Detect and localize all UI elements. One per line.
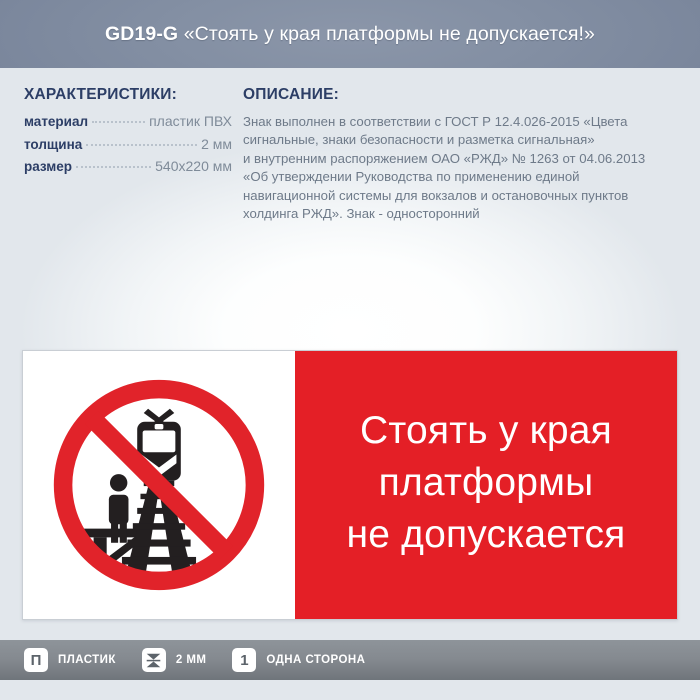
- badge-material: П ПЛАСТИК: [24, 648, 116, 672]
- thickness-icon: [142, 648, 166, 672]
- spec-value: 2 мм: [201, 136, 232, 152]
- plastic-icon: П: [24, 648, 48, 672]
- footer-bar: П ПЛАСТИК 2 ММ 1 ОДНА СТОРОНА: [0, 640, 700, 680]
- product-code: GD19-G: [105, 23, 178, 45]
- badge-label: 2 ММ: [176, 654, 207, 666]
- sign-text-line-3: не допускается: [346, 509, 625, 561]
- badge-sides: 1 ОДНА СТОРОНА: [232, 648, 365, 672]
- badge-label: ПЛАСТИК: [58, 654, 116, 666]
- badge-thickness: 2 ММ: [142, 648, 207, 672]
- product-name: «Стоять у края платформы не допускается!…: [184, 23, 595, 45]
- sign-text-line-2: платформы: [379, 457, 594, 509]
- page-title: GD19-G «Стоять у края платформы не допус…: [105, 23, 595, 46]
- sign-preview: Стоять у края платформы не допускается: [22, 350, 678, 620]
- one-side-icon-glyph: 1: [240, 653, 248, 668]
- spec-row-material: материал пластик ПВХ: [24, 113, 232, 129]
- description-heading: ОПИСАНИЕ:: [243, 86, 675, 104]
- plastic-icon-glyph: П: [31, 653, 42, 668]
- sign-pictogram-pane: [23, 351, 295, 619]
- dot-leader: [92, 121, 145, 123]
- dot-leader: [76, 166, 151, 168]
- spec-label: материал: [24, 114, 88, 129]
- spec-label: размер: [24, 159, 72, 174]
- product-card: GD19-G «Стоять у края платформы не допус…: [0, 0, 700, 700]
- sign-text-pane: Стоять у края платформы не допускается: [295, 351, 677, 619]
- sign-text-line-1: Стоять у края: [360, 405, 612, 457]
- spec-row-size: размер 540х220 мм: [24, 158, 232, 174]
- specifications-heading: ХАРАКТЕРИСТИКИ:: [24, 86, 232, 104]
- spec-value: пластик ПВХ: [149, 113, 232, 129]
- badge-label: ОДНА СТОРОНА: [266, 654, 365, 666]
- one-side-icon: 1: [232, 648, 256, 672]
- no-standing-at-platform-edge-pictogram: [50, 376, 268, 594]
- thickness-icon-glyph: [145, 652, 162, 669]
- spec-value: 540х220 мм: [155, 158, 232, 174]
- spec-label: толщина: [24, 137, 82, 152]
- spec-row-thickness: толщина 2 мм: [24, 136, 232, 152]
- header-bar: GD19-G «Стоять у края платформы не допус…: [0, 0, 700, 68]
- dot-leader: [86, 144, 197, 146]
- description-text: Знак выполнен в соответствии с ГОСТ Р 12…: [243, 113, 675, 223]
- specifications-block: ХАРАКТЕРИСТИКИ: материал пластик ПВХ тол…: [24, 86, 232, 181]
- description-block: ОПИСАНИЕ: Знак выполнен в соответствии с…: [243, 86, 675, 223]
